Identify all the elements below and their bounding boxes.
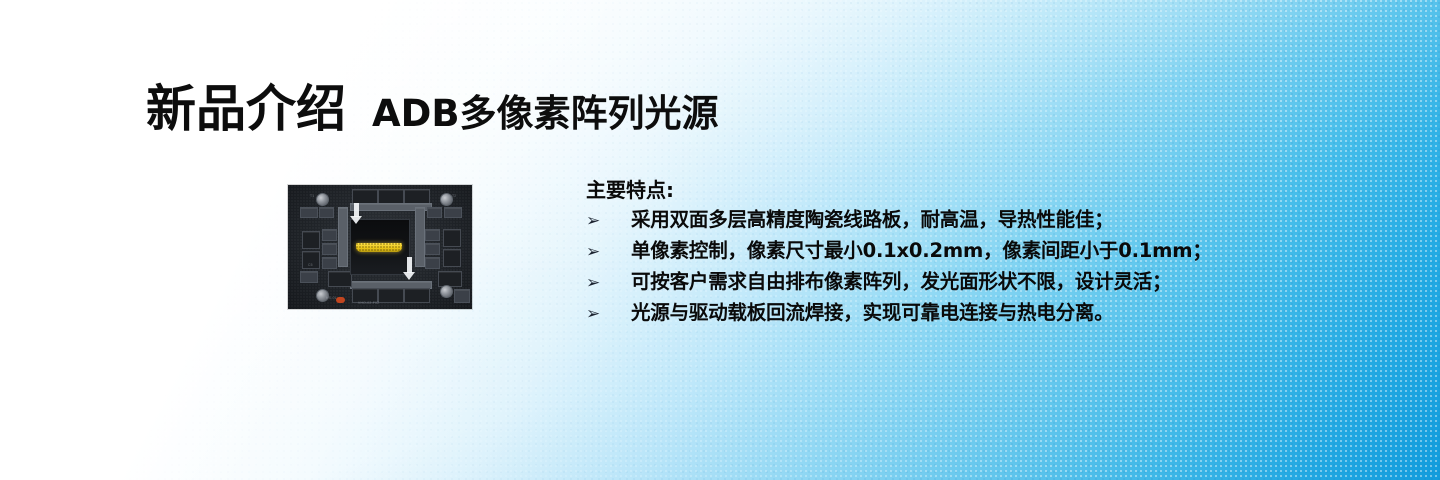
page-title: 新品介绍 ADB多像素阵列光源 [146,84,719,134]
pcb-component [454,289,470,303]
features-block: 主要特点: ➢ 采用双面多层高精度陶瓷线路板，耐高温，导热性能佳； ➢ 单像素控… [586,177,1306,329]
features-list: ➢ 采用双面多层高精度陶瓷线路板，耐高温，导热性能佳； ➢ 单像素控制，像素尺寸… [586,205,1306,329]
pcb-component [425,257,440,269]
silkscreen-label: C5 [308,263,313,267]
mounting-screw [440,285,453,298]
led-pixel-texture [356,243,402,252]
pcb-component [444,207,462,218]
pcb-component [378,288,404,303]
pcb-component [425,243,440,255]
bullet-arrow-icon: ➢ [586,207,631,236]
led-array [356,243,402,252]
pcb-trace [415,207,425,267]
pcb-component [404,189,430,204]
list-item: ➢ 光源与驱动载板回流焊接，实现可靠电连接与热电分离。 [586,298,1306,329]
arrow-down-icon [407,257,412,273]
pcb-component [322,229,337,241]
page-title-subtitle: ADB多像素阵列光源 [372,95,719,132]
list-item: ➢ 可按客户需求自由排布像素阵列，发光面形状不限，设计灵活； [586,267,1306,298]
list-item-label: 可按客户需求自由排布像素阵列，发光面形状不限，设计灵活； [631,267,1171,296]
page-title-main: 新品介绍 [146,84,346,134]
bullet-arrow-icon: ➢ [586,300,631,329]
pcb-component [378,189,404,204]
pcb-chip [302,231,320,249]
arrow-down-icon [354,203,359,217]
silkscreen-label: VHO-02-F02 [358,301,379,305]
pcb-component [322,243,337,255]
features-heading: 主要特点: [586,177,1306,204]
slide-canvas: 新品介绍 ADB多像素阵列光源 [0,0,1440,480]
pcb-chip [443,249,461,267]
mounting-screw [316,193,329,206]
pcb-component [319,207,334,218]
list-item: ➢ 单像素控制，像素尺寸最小0.1x0.2mm，像素间距小于0.1mm； [586,236,1306,267]
silkscreen-label: HS-01 [326,296,337,300]
bullet-arrow-icon: ➢ [586,238,631,267]
polarity-marker [336,297,345,303]
silkscreen-label: T2 [452,194,456,198]
list-item-label: 单像素控制，像素尺寸最小0.1x0.2mm，像素间距小于0.1mm； [631,236,1212,265]
list-item-label: 光源与驱动载板回流焊接，实现可靠电连接与热电分离。 [631,298,1114,327]
pcb-component [300,207,318,218]
pcb-component [352,189,378,204]
pcb-component [328,271,352,287]
list-item: ➢ 采用双面多层高精度陶瓷线路板，耐高温，导热性能佳； [586,205,1306,236]
pcb-component [427,207,442,218]
pcb-component [300,271,318,283]
list-item-label: 采用双面多层高精度陶瓷线路板，耐高温，导热性能佳； [631,205,1114,234]
pcb-chip [443,229,461,247]
pcb-trace [338,207,348,267]
pcb-component [425,229,440,241]
pcb-component [438,271,462,287]
product-photo: HS-01 VHO-02-F02 T1 T2 C5 [288,185,472,309]
silkscreen-label: T1 [310,194,314,198]
pcb-component [404,288,430,303]
pcb-component [322,257,337,269]
bullet-arrow-icon: ➢ [586,269,631,298]
